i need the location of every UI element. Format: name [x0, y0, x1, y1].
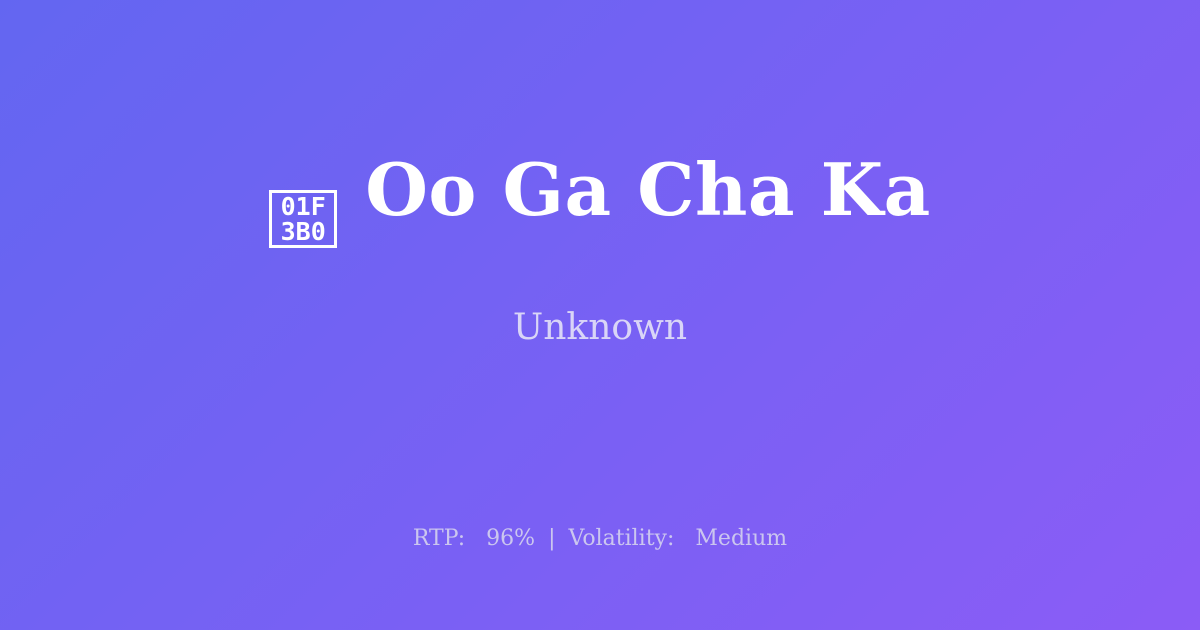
slot-machine-icon: 01F 3B0	[269, 190, 337, 248]
slot-machine-icon-codepoint-high: 01F	[281, 194, 326, 219]
stats-separator: |	[542, 526, 561, 551]
title-row: 01F 3B0 Oo Ga Cha Ka	[269, 154, 931, 248]
slot-machine-icon-codepoint-low: 3B0	[281, 219, 326, 244]
rtp-label: RTP:	[413, 526, 465, 551]
game-title: Oo Ga Cha Ka	[365, 154, 931, 226]
volatility-label: Volatility:	[569, 526, 675, 551]
hero-block: 01F 3B0 Oo Ga Cha Ka Unknown	[0, 0, 1200, 500]
game-preview-card: 01F 3B0 Oo Ga Cha Ka Unknown RTP: 96% | …	[0, 0, 1200, 630]
volatility-value: Medium	[695, 526, 787, 551]
rtp-value: 96%	[486, 526, 535, 551]
game-stats-line: RTP: 96% | Volatility: Medium	[0, 528, 1200, 550]
game-provider: Unknown	[513, 248, 687, 346]
